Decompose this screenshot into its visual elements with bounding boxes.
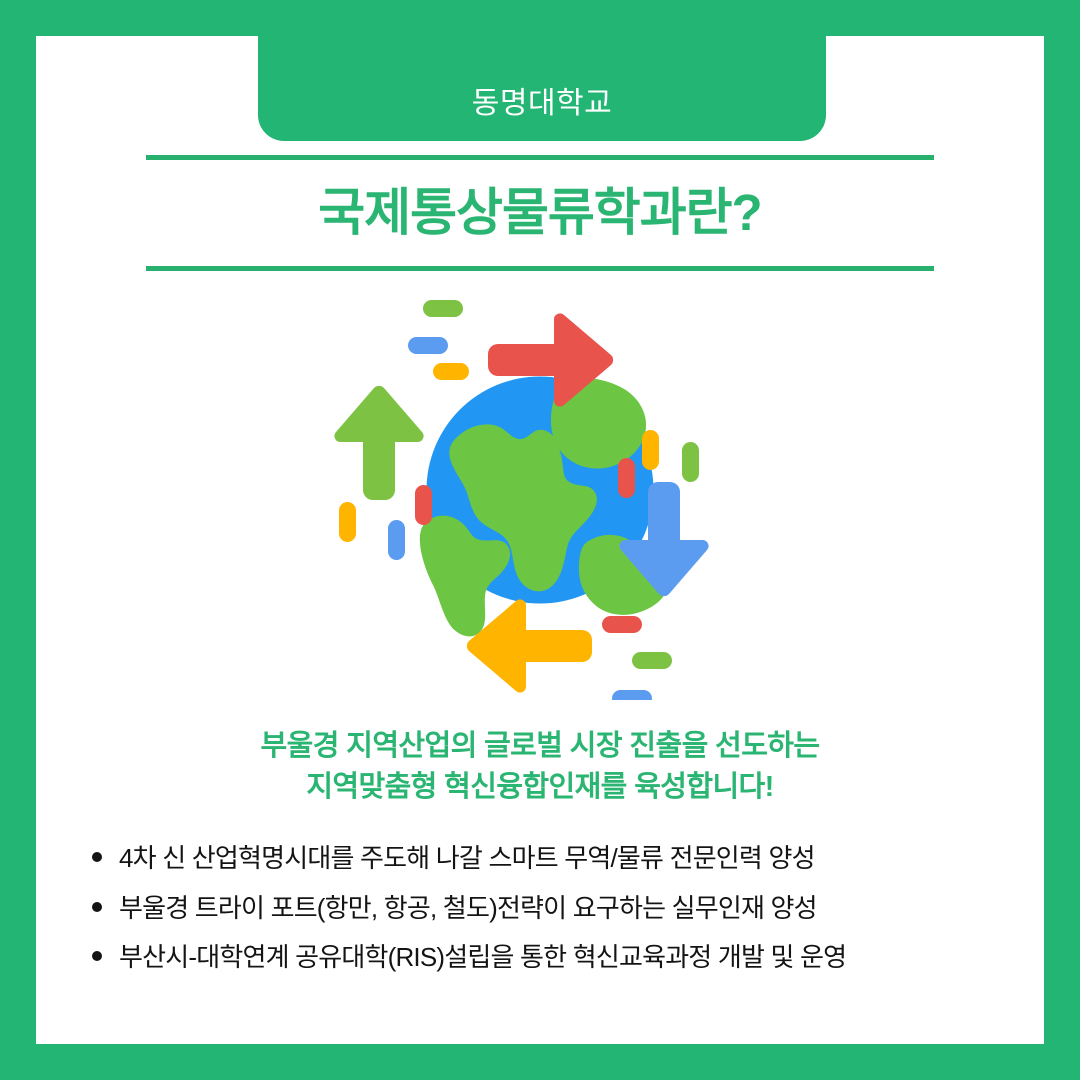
- tagline: 부울경 지역산업의 글로벌 시장 진출을 선도하는 지역맞춤형 혁신융합인재를 …: [36, 726, 1044, 808]
- university-name: 동명대학교: [472, 89, 613, 119]
- list-item-label: 부산시-대학연계 공유대학(RIS)설립을 통한 혁신교육과정 개발 및 운영: [119, 941, 846, 974]
- bullet-list: 4차 신 산업혁명시대를 주도해 나갈 스마트 무역/물류 전문인력 양성 부울…: [92, 842, 1022, 991]
- list-item: 4차 신 산업혁명시대를 주도해 나갈 스마트 무역/물류 전문인력 양성: [92, 842, 1022, 875]
- globe-illustration: [36, 280, 1044, 700]
- arrow-up-icon: [334, 386, 423, 500]
- page-title: 국제통상물류학과란?: [146, 160, 934, 266]
- poster-root: 동명대학교 국제통상물류학과란?: [0, 0, 1080, 1080]
- list-item: 부울경 트라이 포트(항만, 항공, 철도)전략이 요구하는 실무인재 양성: [92, 892, 1022, 925]
- brand-tab: 동명대학교: [258, 36, 826, 141]
- bullet-dot-icon: [92, 951, 102, 961]
- bullet-dot-icon: [92, 902, 102, 912]
- tagline-line-1: 부울경 지역산업의 글로벌 시장 진출을 선도하는: [36, 726, 1044, 767]
- arrow-left-trails: [602, 616, 672, 700]
- title-block: 국제통상물류학과란?: [146, 155, 934, 271]
- globe-icon: [420, 377, 668, 637]
- list-item-label: 4차 신 산업혁명시대를 주도해 나갈 스마트 무역/물류 전문인력 양성: [119, 842, 815, 875]
- arrow-right-trails: [408, 300, 469, 380]
- list-item-label: 부울경 트라이 포트(항만, 항공, 철도)전략이 요구하는 실무인재 양성: [119, 892, 817, 925]
- arrow-left-icon: [467, 599, 592, 692]
- globe-arrows-graphic: [330, 280, 750, 700]
- tagline-line-2: 지역맞춤형 혁신융합인재를 육성합니다!: [36, 767, 1044, 808]
- bullet-dot-icon: [92, 852, 102, 862]
- title-rule-bottom: [146, 266, 934, 271]
- poster-card: 동명대학교 국제통상물류학과란?: [36, 36, 1044, 1044]
- list-item: 부산시-대학연계 공유대학(RIS)설립을 통한 혁신교육과정 개발 및 운영: [92, 941, 1022, 974]
